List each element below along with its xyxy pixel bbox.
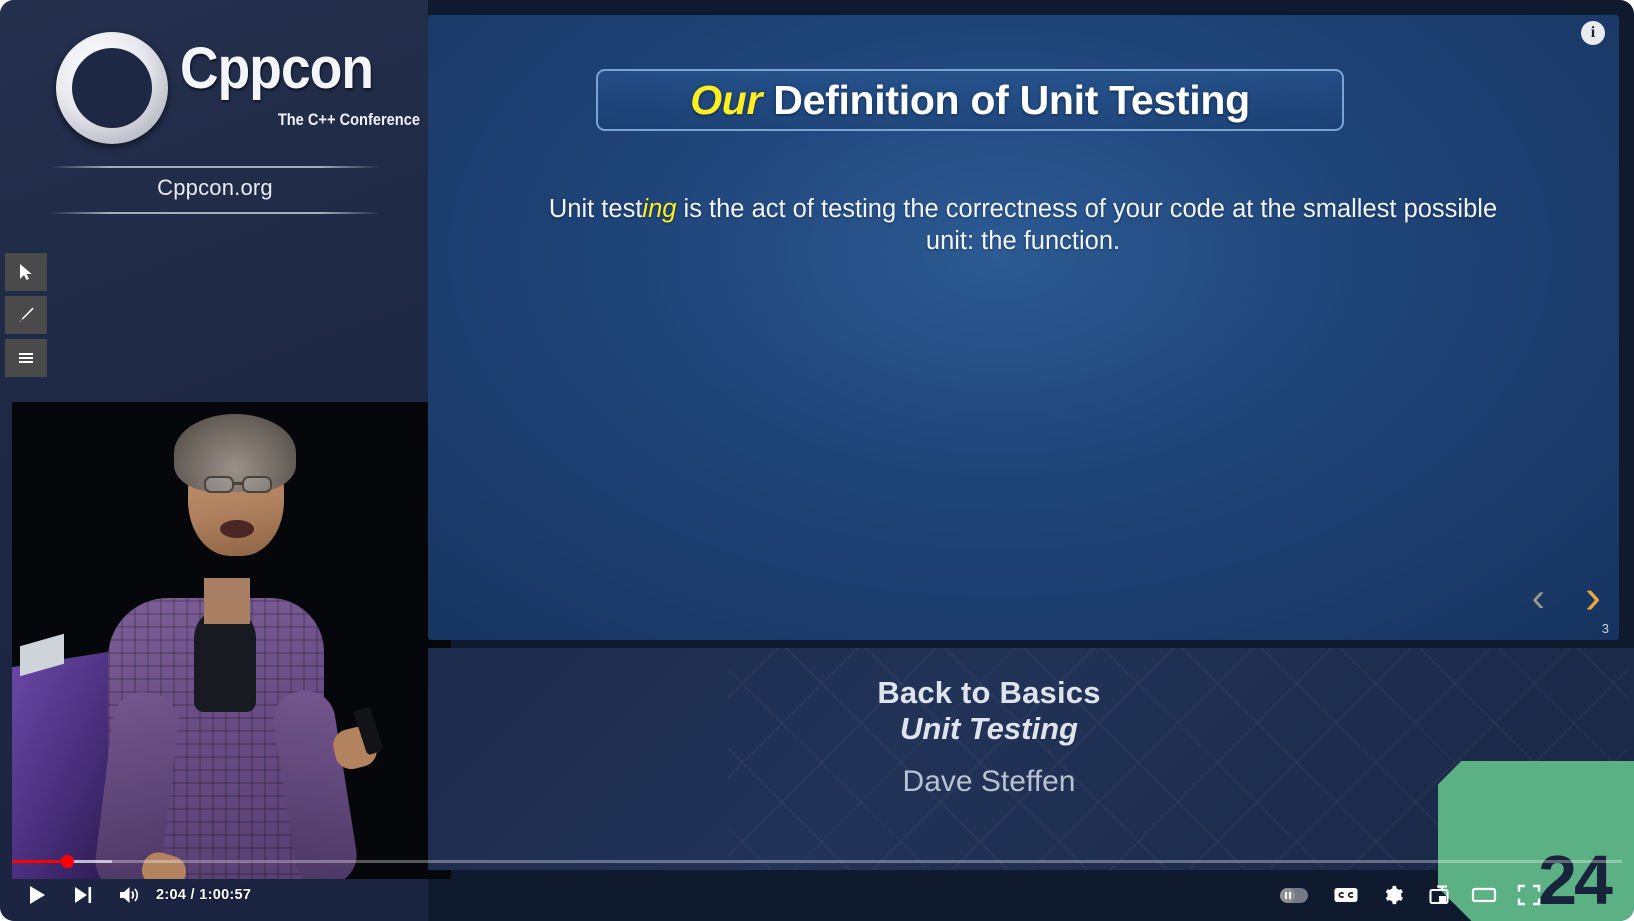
- slide-title-rest: Definition of Unit Testing: [762, 77, 1250, 123]
- theater-mode-button[interactable]: [1460, 869, 1508, 921]
- slide-title: Our Definition of Unit Testing: [690, 77, 1250, 124]
- speaker-camera-view: [12, 402, 451, 879]
- speaker-hair: [174, 414, 296, 492]
- talk-title: Unit Testing: [428, 711, 1550, 747]
- next-video-icon: [72, 885, 94, 905]
- slide-title-box: Our Definition of Unit Testing: [596, 69, 1344, 131]
- pen-tool-button[interactable]: [5, 296, 47, 334]
- autoplay-toggle[interactable]: [1270, 869, 1318, 921]
- next-video-button[interactable]: [60, 869, 106, 921]
- slide-annotation-toolbar: [5, 253, 47, 382]
- talk-title-banner: Back to Basics Unit Testing Dave Steffen: [428, 648, 1634, 870]
- pen-icon: [16, 305, 36, 325]
- slide-next-button[interactable]: ›: [1585, 574, 1601, 622]
- progress-track[interactable]: [12, 860, 1622, 863]
- slide-viewer[interactable]: i Our Definition of Unit Testing Unit te…: [428, 15, 1619, 640]
- theater-mode-icon: [1471, 885, 1497, 905]
- miniplayer-button[interactable]: [1415, 869, 1463, 921]
- cursor-tool-button[interactable]: [5, 253, 47, 291]
- slide-page-number: 3: [1602, 621, 1609, 636]
- time-display: 2:04 / 1:00:57: [156, 869, 251, 921]
- volume-button[interactable]: [106, 869, 152, 921]
- speaker-mouth: [220, 520, 254, 538]
- eyeglasses-bridge: [233, 482, 243, 485]
- fullscreen-icon: [1517, 884, 1541, 906]
- video-player: Cppcon The C++ Conference Cppcon.org: [0, 0, 1634, 921]
- play-button[interactable]: [14, 869, 60, 921]
- menu-icon: [16, 350, 36, 366]
- eyeglasses-right-lens: [242, 476, 272, 493]
- talk-speaker-name: Dave Steffen: [428, 765, 1550, 799]
- closed-captions-icon: [1333, 885, 1359, 905]
- settings-gear-icon: [1382, 884, 1404, 906]
- slide-title-emphasis: Our: [690, 77, 762, 123]
- slide-body-part2: is the act of testing the correctness of…: [676, 195, 1497, 255]
- play-icon: [26, 884, 48, 906]
- eyeglasses-left-lens: [204, 476, 234, 493]
- slide-body-emphasis: ing: [642, 195, 676, 223]
- autoplay-toggle-icon: [1280, 888, 1308, 903]
- progress-played: [12, 860, 67, 863]
- info-icon[interactable]: i: [1581, 21, 1605, 45]
- cursor-icon: [18, 263, 34, 281]
- slide-body-part1: Unit test: [549, 195, 643, 223]
- settings-button[interactable]: [1369, 869, 1417, 921]
- slide-prev-button[interactable]: ‹: [1532, 578, 1545, 618]
- divider-bottom: [50, 212, 380, 214]
- subtitles-button[interactable]: [1322, 869, 1370, 921]
- player-controls: 2:04 / 1:00:57: [0, 869, 1634, 921]
- speaker-neck: [204, 578, 250, 624]
- fullscreen-button[interactable]: [1505, 869, 1553, 921]
- cppcon-logo: Cppcon The C++ Conference: [50, 22, 380, 152]
- logo-wordmark: Cppcon: [180, 40, 373, 98]
- progress-scrubber-handle[interactable]: [61, 855, 74, 868]
- cppcon-branding-panel: Cppcon The C++ Conference Cppcon.org: [0, 0, 428, 921]
- cppcon-coin-icon: [56, 32, 168, 144]
- talk-series-title: Back to Basics: [428, 675, 1550, 711]
- cppcon-website: Cppcon.org: [50, 175, 380, 201]
- miniplayer-icon: [1427, 883, 1451, 907]
- divider-top: [50, 166, 380, 168]
- menu-tool-button[interactable]: [5, 339, 47, 377]
- progress-bar[interactable]: [12, 855, 1622, 869]
- volume-icon: [117, 884, 141, 906]
- logo-tagline: The C++ Conference: [214, 110, 420, 130]
- slide-body-text: Unit testing is the act of testing the c…: [528, 193, 1518, 257]
